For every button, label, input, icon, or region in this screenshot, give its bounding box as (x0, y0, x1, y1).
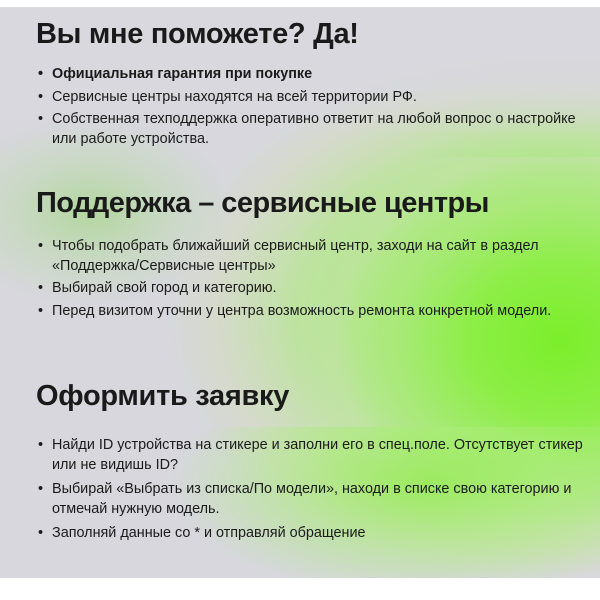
list-item-text: Собственная техподдержка оперативно отве… (52, 111, 576, 147)
list-item: • Чтобы подобрать ближайший сервисный це… (36, 237, 600, 276)
bottom-white-margin (0, 578, 600, 600)
list-item: • Сервисные центры находятся на всей тер… (36, 88, 600, 108)
list-item: • Официальная гарантия при покупке (36, 65, 600, 85)
list-item: • Собственная техподдержка оперативно от… (36, 110, 600, 149)
list-item-text: Выбирай «Выбрать из списка/По модели», н… (52, 481, 571, 517)
list-item-text: Найди ID устройства на стикере и заполни… (52, 437, 583, 473)
list-item-text: Заполняй данные со * и отправляй обращен… (52, 525, 366, 541)
bullet-icon: • (38, 110, 43, 130)
list-item-text: Выбирай свой город и категорию. (52, 280, 277, 296)
list-item: • Заполняй данные со * и отправляй обращ… (36, 524, 600, 544)
section-submit-request: Оформить заявку • Найди ID устройства на… (36, 378, 600, 549)
bullet-icon: • (38, 65, 43, 85)
list-item: • Выбирай «Выбрать из списка/По модели»,… (36, 480, 600, 519)
bullet-icon: • (38, 302, 43, 322)
list-item-text: Сервисные центры находятся на всей терри… (52, 89, 417, 105)
slide-content: Вы мне поможете? Да! • Официальная гаран… (0, 7, 600, 578)
list-item-text: Официальная гарантия при покупке (52, 66, 312, 82)
section-heading-submit-request: Оформить заявку (36, 378, 600, 414)
list-item-text: Перед визитом уточни у центра возможност… (52, 303, 551, 319)
bullet-list-submit-request: • Найди ID устройства на стикере и запол… (36, 436, 600, 544)
bullet-icon: • (38, 88, 43, 108)
top-white-margin (0, 0, 600, 7)
list-item-text: Чтобы подобрать ближайший сервисный цент… (52, 238, 538, 274)
section-support-centers: Поддержка – сервисные центры • Чтобы под… (36, 185, 600, 324)
list-item: • Перед визитом уточни у центра возможно… (36, 302, 600, 322)
bullet-list-support-centers: • Чтобы подобрать ближайший сервисный це… (36, 237, 600, 321)
bullet-icon: • (38, 237, 43, 257)
section-warranty: Вы мне поможете? Да! • Официальная гаран… (36, 16, 600, 152)
bullet-icon: • (38, 480, 43, 500)
bullet-icon: • (38, 436, 43, 456)
section-heading-warranty: Вы мне поможете? Да! (36, 16, 600, 52)
list-item: • Найди ID устройства на стикере и запол… (36, 436, 600, 475)
bullet-icon: • (38, 279, 43, 299)
bullet-list-warranty: • Официальная гарантия при покупке • Сер… (36, 65, 600, 149)
bullet-icon: • (38, 524, 43, 544)
section-heading-support-centers: Поддержка – сервисные центры (36, 185, 600, 221)
list-item: • Выбирай свой город и категорию. (36, 279, 600, 299)
slide-canvas: Вы мне поможете? Да! • Официальная гаран… (0, 7, 600, 578)
